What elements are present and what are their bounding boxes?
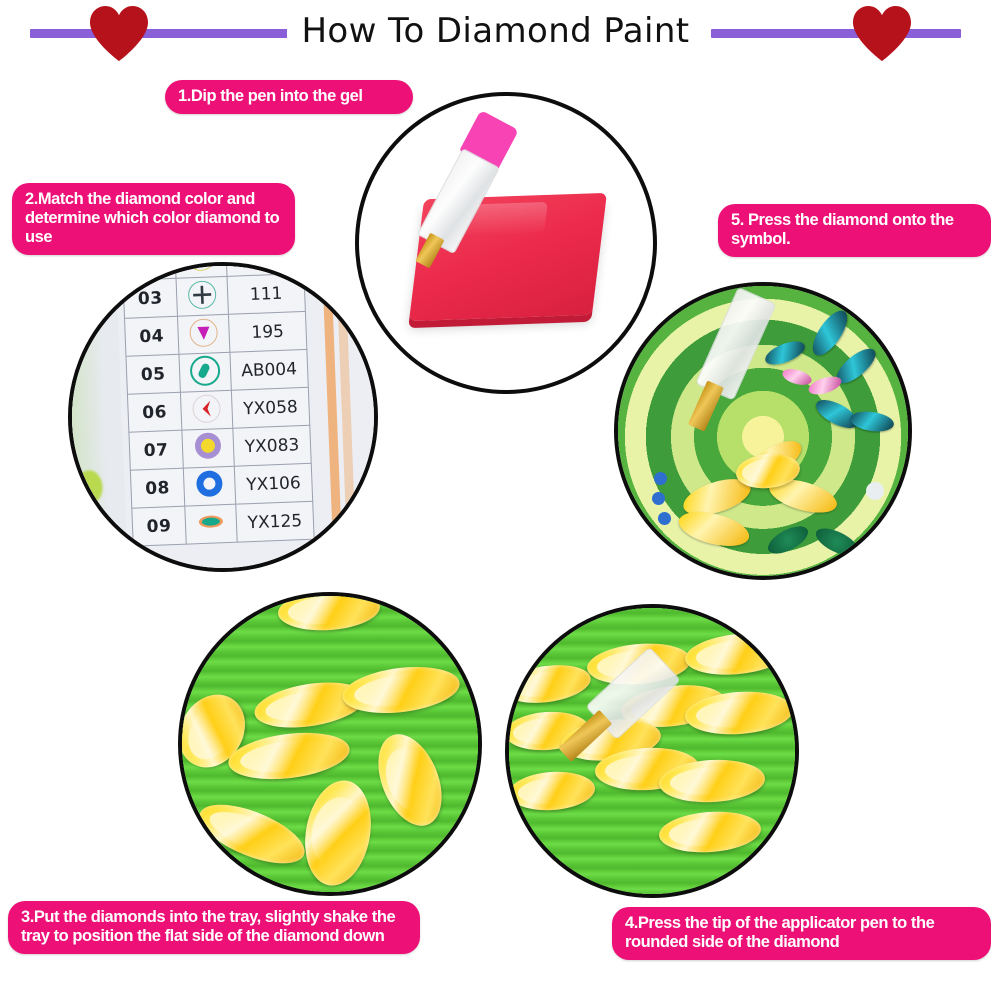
row-no: 06 xyxy=(127,392,181,432)
step-4-scene xyxy=(509,608,795,894)
page-title-text: How To Diamond Paint xyxy=(287,14,703,48)
step-3-scene xyxy=(182,596,478,892)
row-no: 04 xyxy=(125,316,179,356)
magenta-wedge-icon xyxy=(177,314,229,354)
sheet-left-margin xyxy=(68,262,129,572)
row-no: 09 xyxy=(132,506,186,546)
canvas-dot xyxy=(654,472,667,485)
row-no: 08 xyxy=(130,468,184,508)
row-code: YX106 xyxy=(234,463,312,504)
row-code: AB004 xyxy=(230,349,308,390)
pen-tip-icon xyxy=(558,710,612,762)
step-2-scene: 02 093 03 xyxy=(72,266,374,568)
step-2-label: 2.Match the diamond color and determine … xyxy=(12,183,295,255)
page-header: How To Diamond Paint xyxy=(0,0,991,62)
color-chart-sheet: 02 093 03 xyxy=(68,262,378,572)
canvas-dot xyxy=(652,492,665,505)
step-2-photo: 02 093 03 xyxy=(68,262,378,572)
canvas-dot xyxy=(866,482,884,500)
blue-ring-icon xyxy=(183,466,235,506)
canvas-dot xyxy=(658,512,671,525)
step-5-label: 5. Press the diamond onto the symbol. xyxy=(718,204,991,257)
pen-tip-icon xyxy=(415,233,444,269)
step-4-photo xyxy=(505,604,799,898)
row-code: YX125 xyxy=(236,501,314,542)
step-3-label: 3.Put the diamonds into the tray, slight… xyxy=(8,901,420,954)
step-5-photo xyxy=(614,282,912,580)
step-1-scene xyxy=(359,96,653,390)
step-3-photo xyxy=(178,592,482,896)
row-no: 03 xyxy=(123,278,177,318)
step-1-label: 1.Dip the pen into the gel xyxy=(165,80,413,114)
row-code: YX083 xyxy=(233,425,311,466)
step-5-scene xyxy=(618,286,908,576)
pen-tip-icon xyxy=(688,380,724,431)
yellow-dot-icon xyxy=(182,428,234,468)
teal-slash-icon xyxy=(179,352,231,392)
red-arrow-icon xyxy=(180,390,232,430)
row-no: 07 xyxy=(129,430,183,470)
step-1-photo xyxy=(355,92,657,394)
row-no: 05 xyxy=(126,354,180,394)
row-code: 195 xyxy=(228,311,306,352)
row-code: YX058 xyxy=(231,387,309,428)
table-row: 09 YX125 xyxy=(132,501,314,546)
teal-leaf-icon xyxy=(185,504,237,544)
plus-circle-icon xyxy=(176,276,228,316)
step-4-label: 4.Press the tip of the applicator pen to… xyxy=(612,907,991,960)
page-title: How To Diamond Paint xyxy=(0,0,991,62)
color-chart-table: 02 093 03 xyxy=(121,262,315,547)
color-chart-body: 02 093 03 xyxy=(122,262,315,546)
row-code: 111 xyxy=(227,273,305,314)
